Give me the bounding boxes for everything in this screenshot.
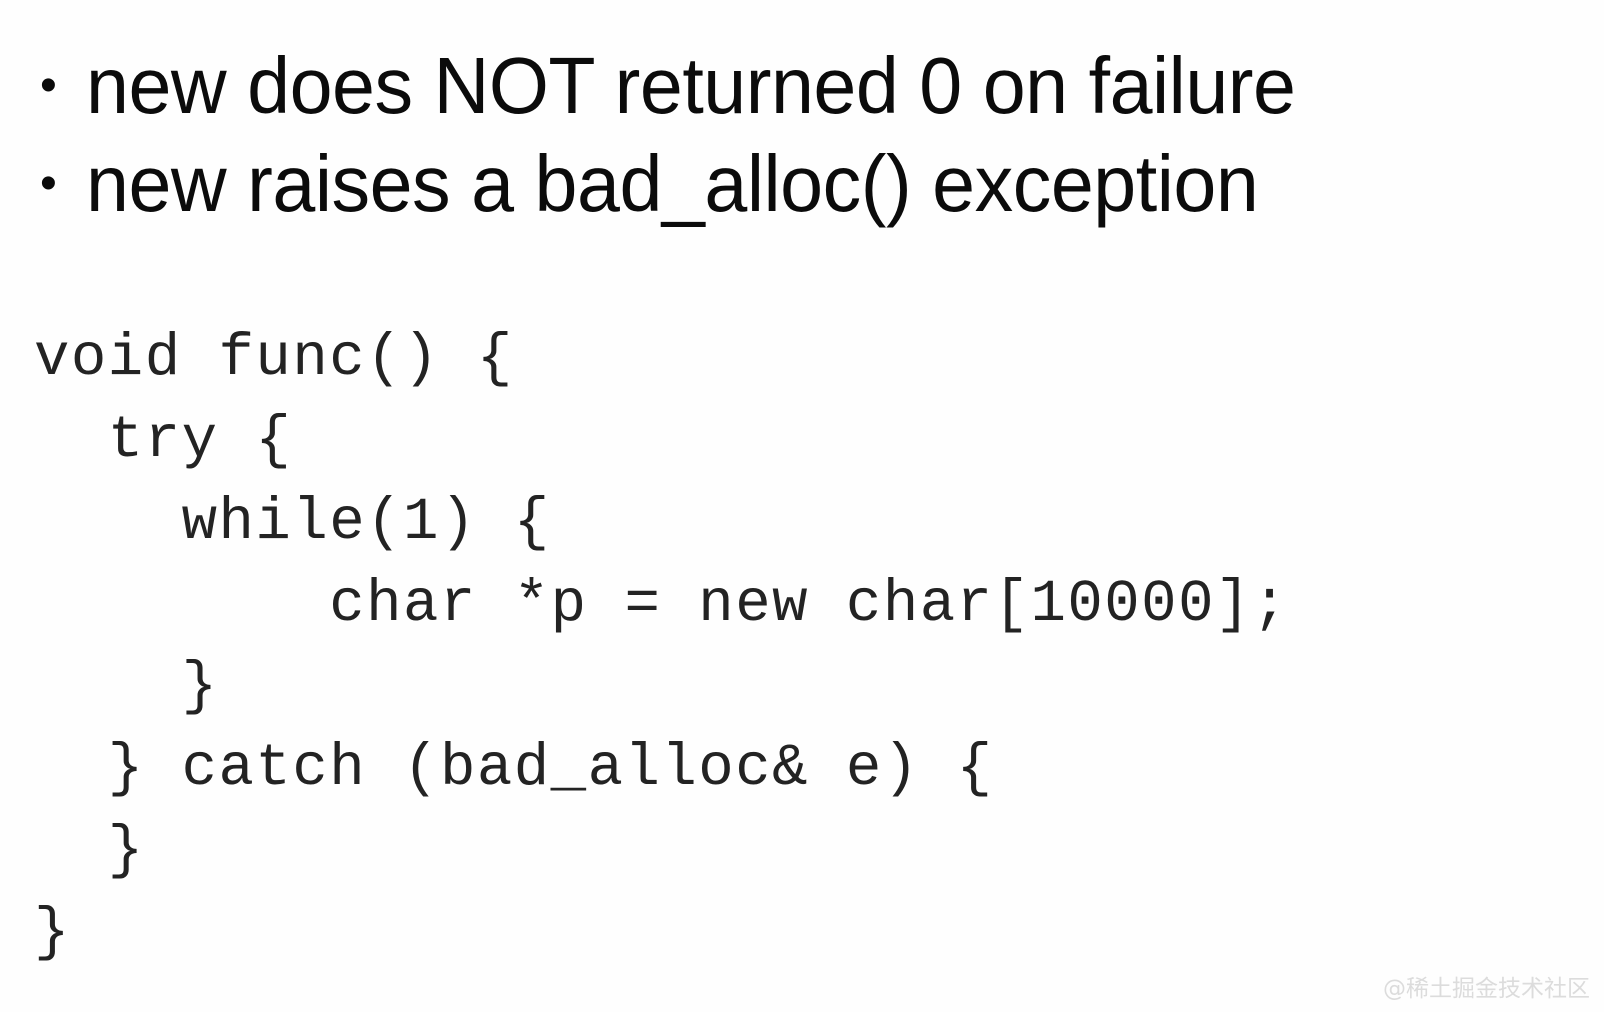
- code-block: void func() { try { while(1) { char *p =…: [34, 318, 1579, 974]
- list-item: • new raises a bad_alloc() exception: [34, 134, 1574, 232]
- code-line: }: [34, 646, 1579, 728]
- bullet-list: • new does NOT returned 0 on failure • n…: [34, 36, 1574, 232]
- list-item: • new does NOT returned 0 on failure: [34, 36, 1574, 134]
- watermark-label: @稀土掘金技术社区: [1383, 974, 1590, 1004]
- code-line: while(1) {: [34, 482, 1579, 564]
- code-line: try {: [34, 400, 1579, 482]
- code-line: char *p = new char[10000];: [34, 564, 1579, 646]
- code-line: } catch (bad_alloc& e) {: [34, 728, 1579, 810]
- code-line: }: [34, 810, 1579, 892]
- bullet-point-icon: •: [34, 134, 86, 234]
- bullet-item-label: new raises a bad_alloc() exception: [86, 134, 1522, 234]
- slide-canvas: • new does NOT returned 0 on failure • n…: [0, 0, 1604, 1012]
- bullet-item-label: new does NOT returned 0 on failure: [86, 36, 1522, 136]
- code-line: void func() {: [34, 318, 1579, 400]
- code-line: }: [34, 892, 1579, 974]
- bullet-point-icon: •: [34, 36, 86, 136]
